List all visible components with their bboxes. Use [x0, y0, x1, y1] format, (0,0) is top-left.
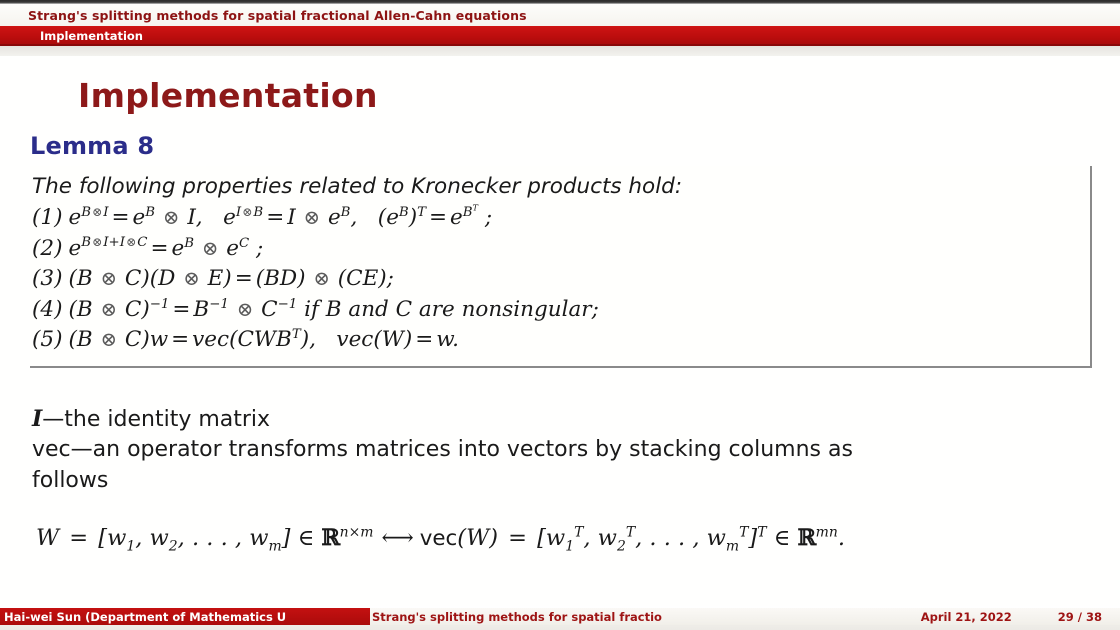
presentation-slide: Strang's splitting methods for spatial f… — [0, 0, 1120, 630]
lemma-item-2-number: (2) — [32, 236, 68, 261]
lemma-intro-text: The following properties related to Kron… — [32, 172, 1076, 203]
footer-subject: Strang's splitting methods for spatial f… — [370, 608, 800, 625]
lemma-item-5-math: (B ⊗ C)w=vec(CWBT), vec(W)=w. — [68, 327, 458, 352]
footer-author: Hai-wei Sun (Department of Mathematics U — [0, 608, 370, 625]
lemma-item-1-number: (1) — [32, 205, 68, 230]
display-equation: W = [w1, w2, . . . , wm] ∈ ℝn×m⟷vec(W) =… — [36, 524, 845, 554]
display-equation-lhs: W = [w1, w2, . . . , wm] ∈ ℝn×m — [36, 525, 374, 551]
lemma-heading: Lemma 8 — [30, 132, 1092, 160]
talk-title: Strang's splitting methods for spatial f… — [28, 8, 527, 23]
notes-block: I—the identity matrix vec—an operator tr… — [32, 404, 1092, 496]
lemma-item-5: (5)(B ⊗ C)w=vec(CWBT), vec(W)=w. — [32, 325, 1076, 356]
footer-meta: April 21, 2022 29 / 38 — [800, 608, 1120, 625]
note-identity: I—the identity matrix — [32, 404, 1092, 435]
lemma-item-3: (3)(B ⊗ C)(D ⊗ E)=(BD) ⊗ (CE); — [32, 264, 1076, 295]
section-name: Implementation — [40, 29, 143, 43]
note-vec-cont: follows — [32, 466, 1092, 496]
lemma-item-2-math: eB⊗I+I⊗C=eB ⊗ eC ; — [68, 236, 263, 261]
header-section-bar[interactable]: Implementation — [0, 26, 1120, 46]
footer-page-number: 29 / 38 — [1058, 610, 1102, 624]
display-equation-rhs: vec(W) = [w1T, w2T, . . . , wmT]T ∈ ℝmn. — [420, 525, 845, 551]
slide-body: Implementation Lemma 8 The following pro… — [0, 56, 1120, 606]
lemma-item-1: (1)eB⊗I=eB ⊗ I, eI⊗B=I ⊗ eB, (eB)T=eBT ; — [32, 203, 1076, 234]
lemma-item-3-math: (B ⊗ C)(D ⊗ E)=(BD) ⊗ (CE); — [68, 266, 393, 291]
iff-arrow-icon: ⟷ — [374, 525, 420, 551]
lemma-item-4-number: (4) — [32, 297, 68, 322]
lemma-item-2: (2)eB⊗I+I⊗C=eB ⊗ eC ; — [32, 234, 1076, 265]
vec-description-line2: follows — [32, 468, 108, 493]
lemma-item-4: (4)(B ⊗ C)−1=B−1 ⊗ C−1 if B and C are no… — [32, 295, 1076, 326]
lemma-block: Lemma 8 The following properties related… — [30, 132, 1092, 368]
lemma-item-3-number: (3) — [32, 266, 68, 291]
lemma-item-5-number: (5) — [32, 327, 68, 352]
identity-symbol: I — [32, 406, 42, 432]
lemma-item-1-math: eB⊗I=eB ⊗ I, eI⊗B=I ⊗ eB, (eB)T=eBT ; — [68, 205, 492, 230]
vec-description-line1: —an operator transforms matrices into ve… — [71, 437, 853, 462]
footer-date: April 21, 2022 — [921, 610, 1012, 624]
identity-description: —the identity matrix — [42, 407, 270, 432]
note-vec: vec—an operator transforms matrices into… — [32, 435, 1092, 465]
slide-footer: Hai-wei Sun (Department of Mathematics U… — [0, 608, 1120, 630]
header-title-bar: Strang's splitting methods for spatial f… — [0, 4, 1120, 27]
lemma-body: The following properties related to Kron… — [30, 166, 1092, 368]
frame-title: Implementation — [78, 76, 378, 115]
vec-symbol: vec — [32, 437, 71, 462]
header-shadow-strip — [0, 46, 1120, 56]
lemma-item-4-math: (B ⊗ C)−1=B−1 ⊗ C−1 if B and C are nonsi… — [68, 297, 598, 322]
